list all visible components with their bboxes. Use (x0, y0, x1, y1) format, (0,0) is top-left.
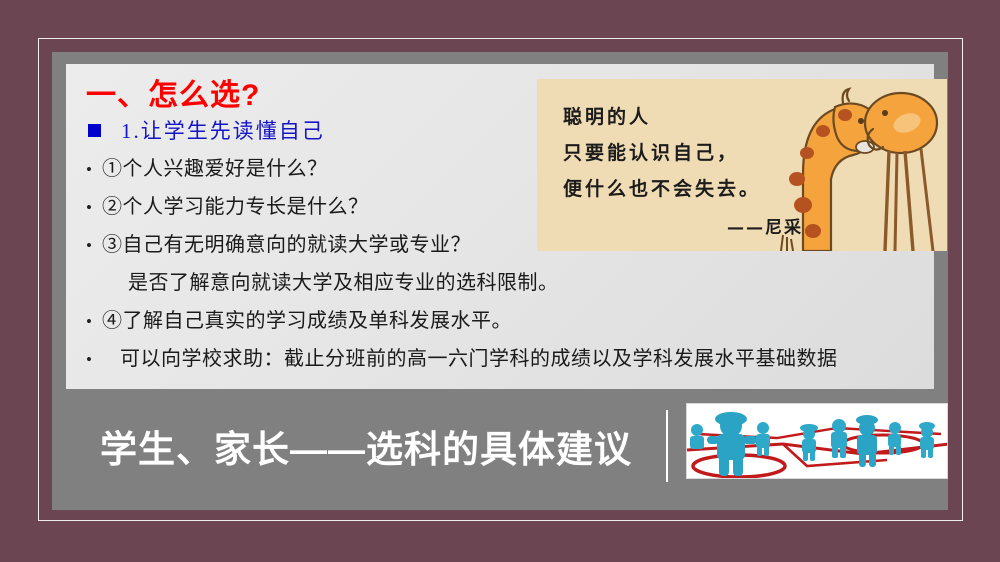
slide-frame: 一、怎么选? 1.让学生先读懂自己 • ①个人兴趣爱好是什么？ • ②个人学习能… (52, 52, 948, 510)
bullet-dot-icon: • (86, 161, 102, 178)
list-item-text: ④了解自己真实的学习成绩及单科发展水平。 (102, 304, 512, 333)
presentation-slide: 一、怎么选? 1.让学生先读懂自己 • ①个人兴趣爱好是什么？ • ②个人学习能… (0, 0, 1000, 562)
list-item: • ④了解自己真实的学习成绩及单科发展水平。 (86, 304, 926, 342)
bullet-dot-icon: • (86, 351, 102, 368)
network-people-icon (687, 404, 948, 479)
square-bullet-icon (88, 124, 101, 137)
list-item-text: 可以向学校求助：截止分班前的高一六门学科的成绩以及学科发展水平基础数据 (102, 342, 838, 371)
sub-heading: 1.让学生先读懂自己 (88, 115, 325, 145)
list-item-text: ③自己有无明确意向的就读大学或专业？ (102, 228, 471, 257)
quote-attribution: ——尼采 (563, 207, 813, 238)
list-item-text: ②个人学习能力专长是什么？ (102, 190, 369, 219)
quote-line: 聪明的人 (563, 99, 813, 135)
quote-line: 便什么也不会失去。 (563, 171, 813, 207)
list-item-text: 是否了解意向就读大学及相应专业的选科限制。 (102, 266, 559, 295)
giraffe-quote-illustration: 聪明的人 只要能认识自己， 便什么也不会失去。 ——尼采 (537, 79, 947, 251)
bottom-banner: 学生、家长——选科的具体建议 (52, 389, 948, 510)
network-people-illustration (686, 403, 948, 479)
bullet-dot-icon: • (86, 313, 102, 330)
quote-line: 只要能认识自己， (563, 135, 813, 171)
bullet-dot-icon: • (86, 199, 102, 216)
bullet-dot-icon: • (86, 237, 102, 254)
list-item-text: ①个人兴趣爱好是什么？ (102, 152, 328, 181)
quote-text-block: 聪明的人 只要能认识自己， 便什么也不会失去。 ——尼采 (563, 99, 813, 238)
page-title: 一、怎么选? (86, 70, 260, 114)
banner-title: 学生、家长——选科的具体建议 (100, 419, 632, 473)
content-panel: 一、怎么选? 1.让学生先读懂自己 • ①个人兴趣爱好是什么？ • ②个人学习能… (66, 64, 934, 389)
list-item: 是否了解意向就读大学及相应专业的选科限制。 (86, 266, 926, 304)
list-item: • 可以向学校求助：截止分班前的高一六门学科的成绩以及学科发展水平基础数据 (86, 342, 926, 380)
sub-heading-label: 1.让学生先读懂自己 (121, 115, 325, 145)
banner-divider (666, 410, 668, 482)
